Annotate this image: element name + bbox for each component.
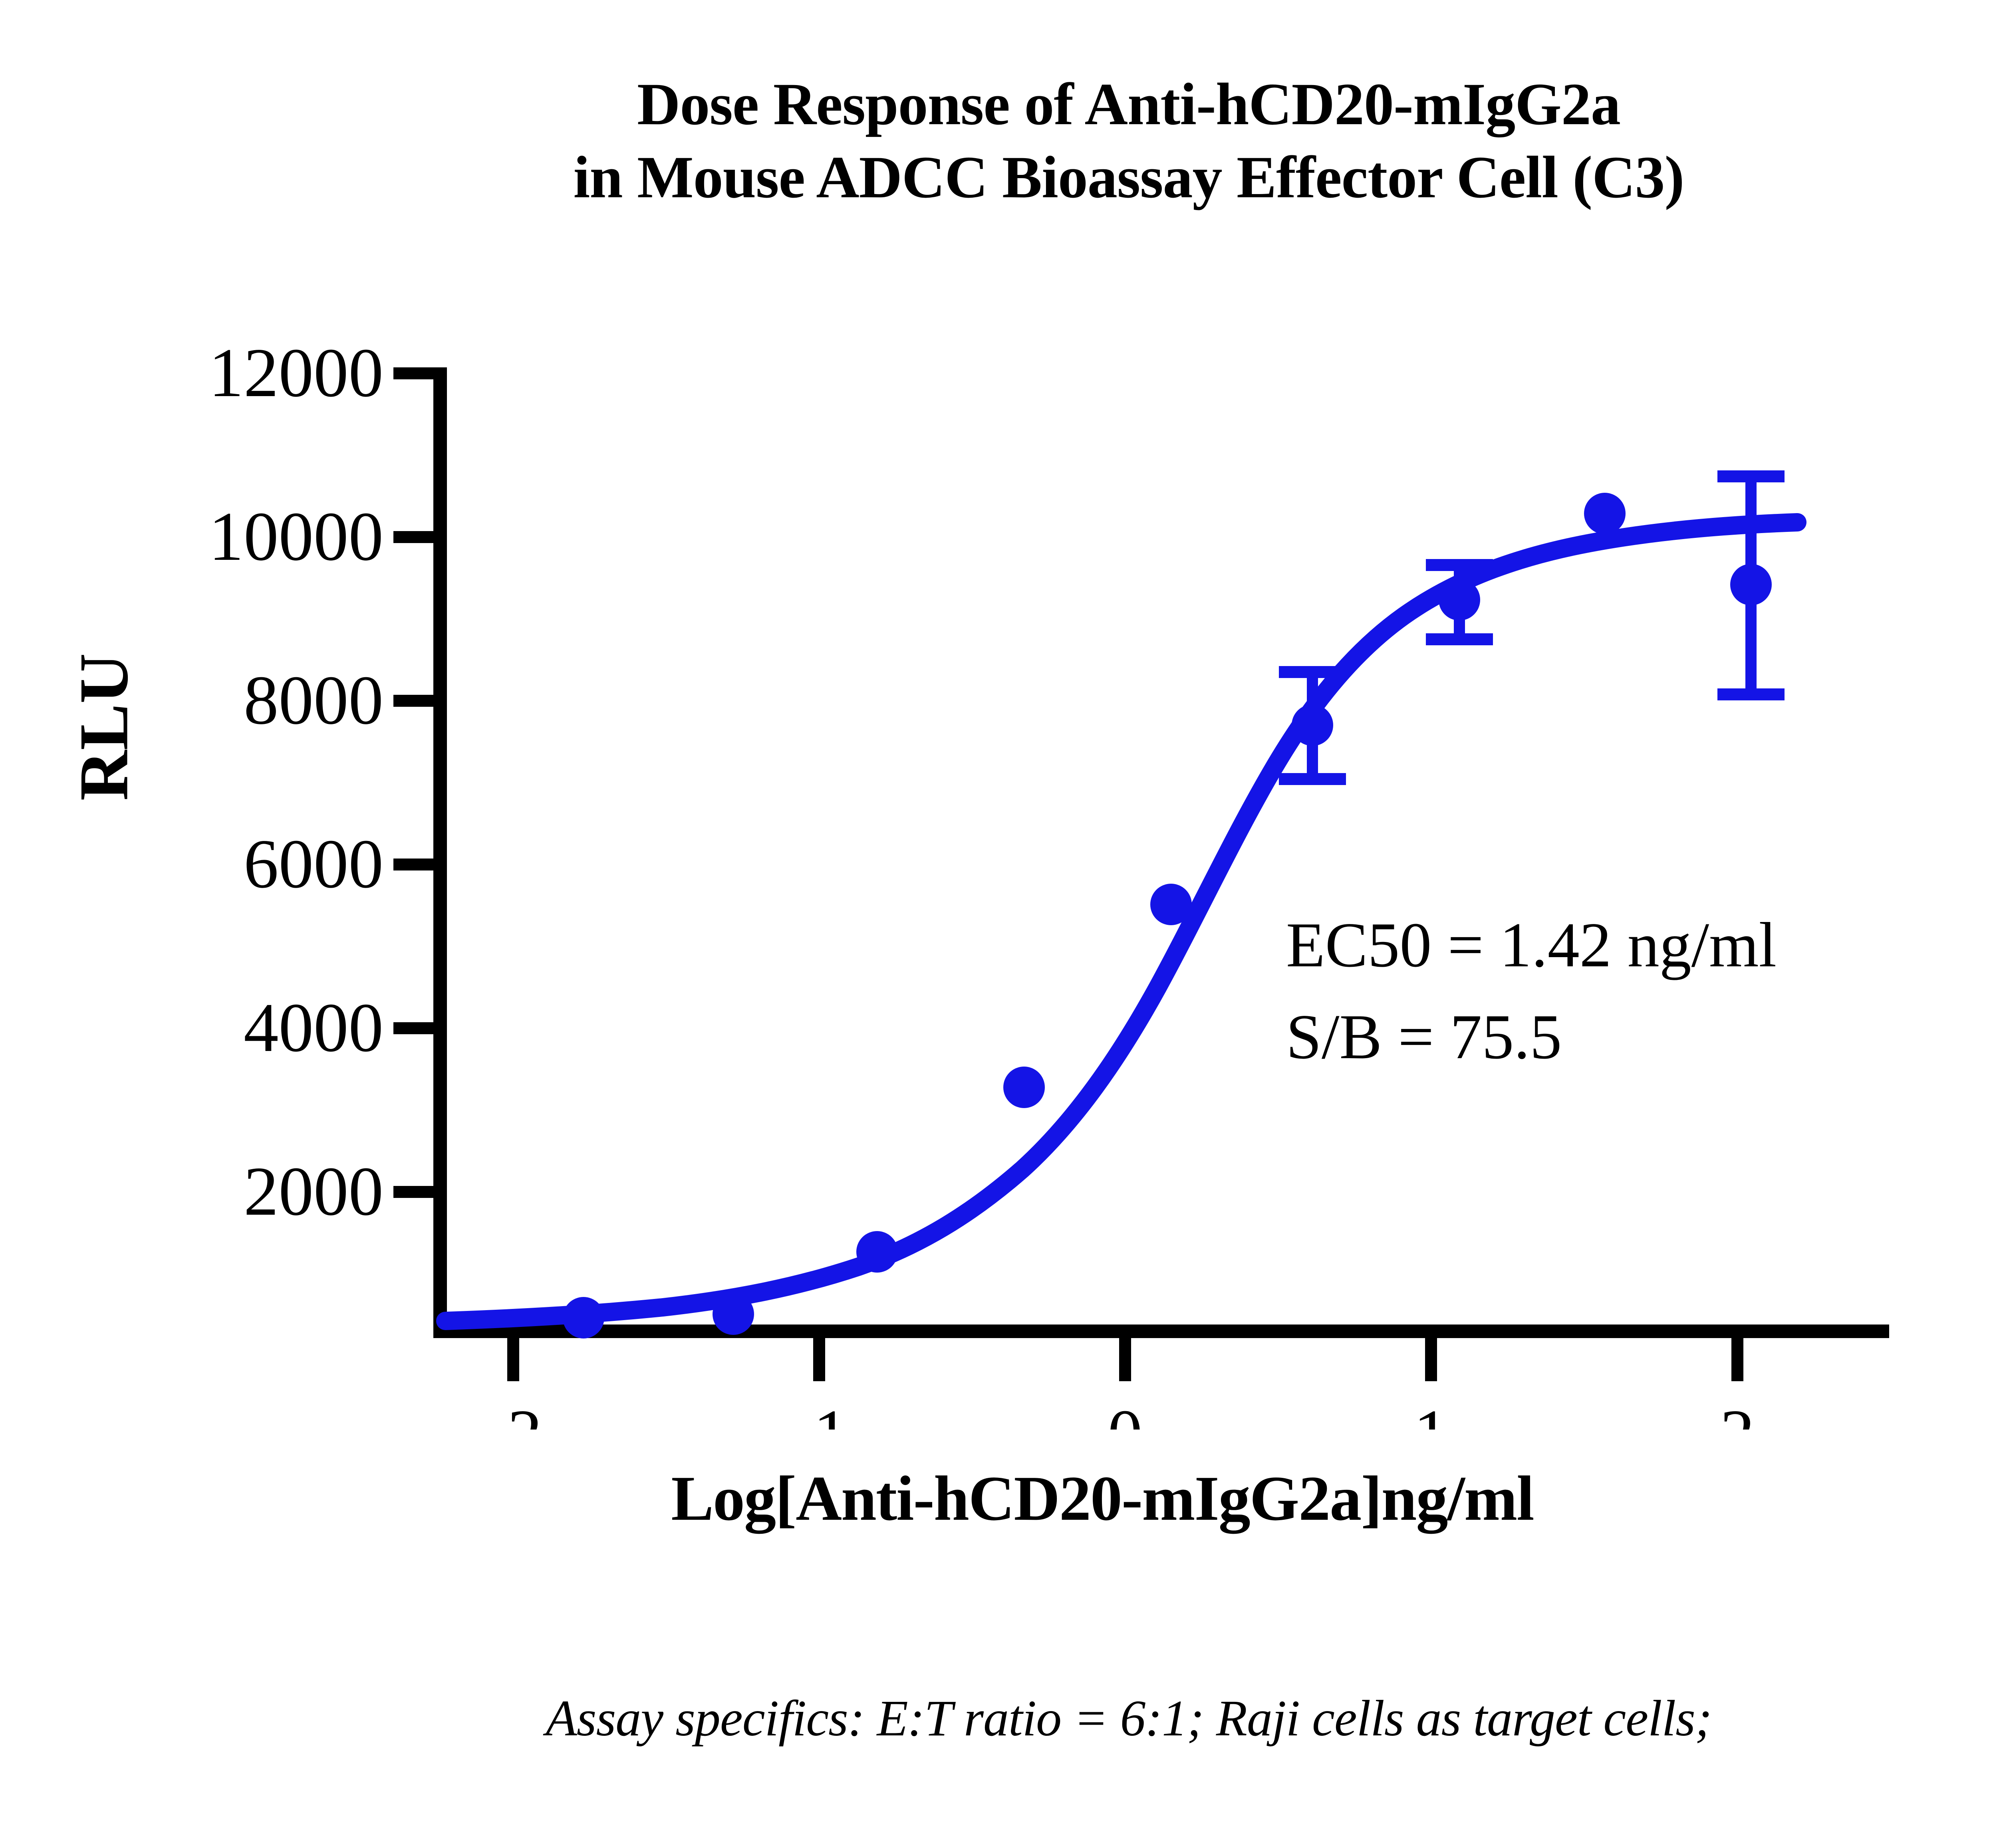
y-tick-label-4000: 4000	[244, 989, 383, 1066]
y-tick-label-12000: 12000	[209, 334, 384, 411]
y-tick-label-2000: 2000	[244, 1152, 383, 1230]
figure-page: Dose Response of Anti-hCD20-mIgG2a in Mo…	[0, 0, 1997, 1848]
y-tick-label-6000: 6000	[244, 825, 383, 902]
ec50-annotation: EC50 = 1.42 ng/ml	[1286, 909, 1777, 980]
x-tick-labels: -2 -1 0 1 2	[484, 1395, 1755, 1430]
dose-response-chart: 12000 10000 8000 6000 4000 2000 -2 -1 0	[0, 311, 1997, 1430]
data-point	[1292, 704, 1333, 746]
data-point	[1730, 564, 1772, 605]
data-point	[856, 1231, 898, 1273]
data-point	[1003, 1067, 1045, 1108]
x-tick-label-neg2: -2	[484, 1395, 542, 1430]
x-tick-label-neg1: -1	[790, 1395, 848, 1430]
title-line-1: Dose Response of Anti-hCD20-mIgG2a	[0, 68, 1997, 141]
sb-annotation: S/B = 75.5	[1286, 1001, 1562, 1072]
data-point	[713, 1293, 754, 1335]
assay-footnote: Assay specifics: E:T ratio = 6:1; Raji c…	[0, 1689, 1997, 1748]
y-tick-labels: 12000 10000 8000 6000 4000 2000	[209, 334, 384, 1230]
y-tick-label-8000: 8000	[244, 661, 383, 739]
x-tick-label-1: 1	[1413, 1395, 1449, 1430]
chart-plot-area: 12000 10000 8000 6000 4000 2000 -2 -1 0	[0, 311, 1997, 1430]
y-tick-label-10000: 10000	[209, 498, 384, 575]
error-bars	[1279, 470, 1785, 785]
data-point	[1150, 884, 1192, 925]
x-tick-label-2: 2	[1720, 1395, 1755, 1430]
x-tick-label-0: 0	[1108, 1395, 1143, 1430]
data-point	[1439, 579, 1480, 621]
y-axis-line	[433, 367, 447, 1338]
x-axis-title: Log[Anti-hCD20-mIgG2a]ng/ml	[224, 1461, 1981, 1535]
y-axis-ticks	[393, 367, 435, 1198]
title-line-2: in Mouse ADCC Bioassay Effector Cell (C3…	[0, 141, 1997, 214]
x-axis-ticks	[507, 1338, 1743, 1381]
figure-title: Dose Response of Anti-hCD20-mIgG2a in Mo…	[0, 68, 1997, 214]
data-point	[1584, 493, 1626, 534]
x-axis-line	[433, 1325, 1889, 1338]
y-axis-title: RLU	[64, 647, 144, 807]
chart-annotations: EC50 = 1.42 ng/ml S/B = 75.5	[1286, 909, 1777, 1072]
data-point	[563, 1297, 604, 1338]
